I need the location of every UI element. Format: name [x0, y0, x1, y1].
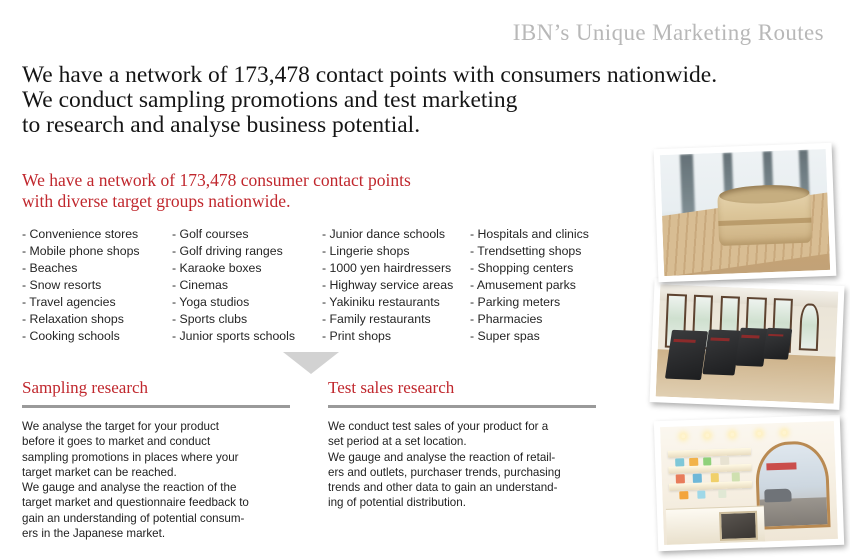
decor: [668, 447, 752, 457]
body-line: trends and other data to gain an underst…: [328, 480, 596, 495]
body-line: ers in the Japanese market.: [22, 526, 290, 541]
section-test-sales-research: Test sales research We conduct test sale…: [328, 378, 596, 511]
photo-onsen-bucket: [654, 143, 837, 282]
section-title: Test sales research: [328, 378, 596, 398]
photo-gym: [649, 278, 844, 410]
list-item: - Mobile phone shops: [22, 243, 140, 260]
list-item: - Lingerie shops: [322, 243, 453, 260]
decor: [689, 458, 698, 467]
photo-stack: [648, 142, 850, 560]
section-body: We analyse the target for your product b…: [22, 419, 290, 541]
photo-frame: [660, 421, 838, 545]
decor: [720, 457, 729, 466]
body-line: set period at a set location.: [328, 434, 596, 449]
slide-canvas: IBN’s Unique Marketing Routes We have a …: [0, 0, 850, 560]
list-item: - Pharmacies: [470, 311, 589, 328]
section-divider: [328, 405, 596, 408]
gym-image: [656, 284, 839, 403]
list-item: - Yoga studios: [172, 294, 295, 311]
body-line: ers and outlets, purchaser trends, purch…: [328, 465, 596, 480]
decor: [703, 457, 712, 466]
decor: [681, 434, 685, 438]
list-item: - Sports clubs: [172, 311, 295, 328]
list-item: - Karaoke boxes: [172, 260, 295, 277]
bullet-column-2: - Golf courses - Golf driving ranges - K…: [172, 226, 295, 345]
decor: [765, 488, 792, 502]
list-item: - Hospitals and clinics: [470, 226, 589, 243]
sub-headline-line-1: We have a network of 173,478 consumer co…: [22, 170, 542, 191]
bullet-column-1: - Convenience stores - Mobile phone shop…: [22, 226, 140, 345]
decor: [665, 330, 708, 380]
decor: [680, 491, 689, 500]
list-item: - Family restaurants: [322, 311, 453, 328]
sub-headline: We have a network of 173,478 consumer co…: [22, 170, 542, 212]
bullet-column-3: - Junior dance schools - Lingerie shops …: [322, 226, 453, 345]
list-item: - Travel agencies: [22, 294, 140, 311]
decor: [718, 490, 727, 499]
decor: [702, 329, 741, 375]
body-line: sampling promotions in places where your: [22, 450, 290, 465]
decor: [693, 474, 702, 483]
decor: [676, 475, 685, 484]
body-line: We gauge and analyse the reaction of the: [22, 480, 290, 495]
body-line: We conduct test sales of your product fo…: [328, 419, 596, 434]
contact-point-categories: - Convenience stores - Mobile phone shop…: [22, 226, 632, 346]
section-sampling-research: Sampling research We analyse the target …: [22, 378, 290, 541]
bullet-column-4: - Hospitals and clinics - Trendsetting s…: [470, 226, 589, 345]
onsen-bucket-image: [660, 149, 830, 276]
list-item: - Golf courses: [172, 226, 295, 243]
decor: [697, 490, 706, 499]
body-line: target market and questionnaire feedback…: [22, 495, 290, 510]
decor: [763, 328, 792, 360]
body-line: gain an understanding of potential consu…: [22, 511, 290, 526]
decor: [731, 473, 740, 482]
decor: [766, 462, 796, 470]
section-body: We conduct test sales of your product fo…: [328, 419, 596, 511]
headline: We have a network of 173,478 contact poi…: [22, 63, 812, 138]
list-item: - Highway service areas: [322, 277, 453, 294]
list-item: - Junior sports schools: [172, 328, 295, 345]
decor: [758, 432, 762, 436]
list-item: - Shopping centers: [470, 260, 589, 277]
body-line: We gauge and analyse the reaction of ret…: [328, 450, 596, 465]
list-item: - Cooking schools: [22, 328, 140, 345]
decor: [798, 304, 820, 352]
decor: [719, 511, 758, 541]
decor: [755, 440, 831, 530]
list-item: - Super spas: [470, 328, 589, 345]
list-item: - Junior dance schools: [322, 226, 453, 243]
retail-shop-image: [660, 421, 838, 545]
photo-retail-shop: [654, 415, 844, 551]
body-line: We analyse the target for your product: [22, 419, 290, 434]
list-item: - Print shops: [322, 328, 453, 345]
headline-line-1: We have a network of 173,478 contact poi…: [22, 63, 812, 88]
decor: [718, 190, 813, 247]
list-item: - 1000 yen hairdressers: [322, 260, 453, 277]
section-title: Sampling research: [22, 378, 290, 398]
decor: [705, 434, 709, 438]
decor: [710, 473, 719, 482]
list-item: - Trendsetting shops: [470, 243, 589, 260]
sub-headline-line-2: with diverse target groups nationwide.: [22, 191, 542, 212]
list-item: - Convenience stores: [22, 226, 140, 243]
decor: [782, 431, 786, 435]
page-title: IBN’s Unique Marketing Routes: [513, 20, 824, 46]
body-line: target market can be reached.: [22, 465, 290, 480]
list-item: - Relaxation shops: [22, 311, 140, 328]
list-item: - Parking meters: [470, 294, 589, 311]
body-line: before it goes to market and conduct: [22, 434, 290, 449]
list-item: - Amusement parks: [470, 277, 589, 294]
headline-line-3: to research and analyse business potenti…: [22, 113, 812, 138]
photo-frame: [656, 284, 839, 403]
list-item: - Snow resorts: [22, 277, 140, 294]
section-divider: [22, 405, 290, 408]
decor: [675, 458, 684, 467]
list-item: - Yakiniku restaurants: [322, 294, 453, 311]
decor: [730, 433, 734, 437]
down-triangle-icon: [283, 352, 339, 374]
list-item: - Golf driving ranges: [172, 243, 295, 260]
list-item: - Cinemas: [172, 277, 295, 294]
photo-frame: [660, 149, 830, 276]
list-item: - Beaches: [22, 260, 140, 277]
headline-line-2: We conduct sampling promotions and test …: [22, 88, 812, 113]
body-line: ing of potential distribution.: [328, 495, 596, 510]
